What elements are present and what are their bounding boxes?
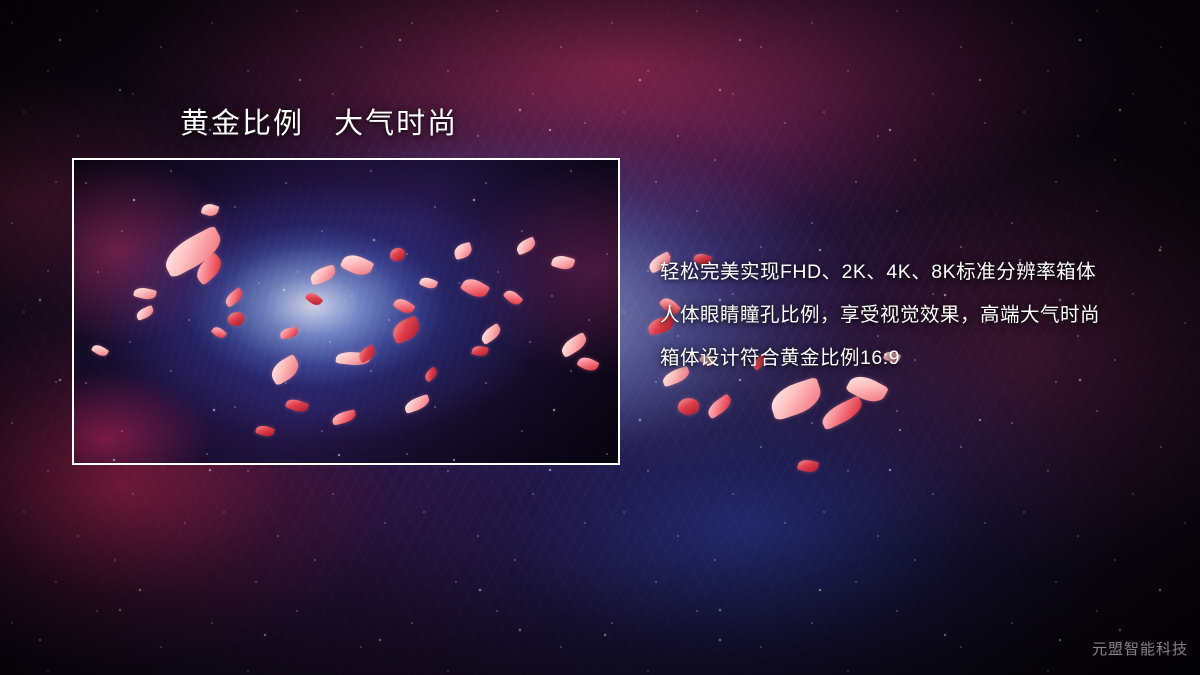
page-title: 黄金比例 大气时尚 bbox=[180, 100, 458, 142]
framed-image bbox=[72, 158, 620, 465]
body-line-3: 箱体设计符合黄金比例16:9 bbox=[660, 337, 1100, 380]
flower-petal bbox=[797, 458, 819, 474]
body-text-block: 轻松完美实现FHD、2K、4K、8K标准分辨率箱体 人体眼睛瞳孔比例，享受视觉效… bbox=[660, 251, 1100, 380]
body-line-2: 人体眼睛瞳孔比例，享受视觉效果，高端大气时尚 bbox=[660, 294, 1100, 337]
watermark: 元盟智能科技 bbox=[1092, 638, 1188, 659]
body-line-1: 轻松完美实现FHD、2K、4K、8K标准分辨率箱体 bbox=[660, 251, 1100, 294]
flower-petal bbox=[818, 395, 865, 430]
flower-petal bbox=[705, 394, 735, 420]
flower-petal bbox=[677, 396, 701, 416]
framed-image-wisps bbox=[74, 160, 618, 463]
slide-canvas: 黄金比例 大气时尚 轻松完美实现FHD、2K、4K、8K标准分辨率箱体 人体眼睛… bbox=[0, 0, 1200, 675]
flower-petal bbox=[767, 377, 826, 422]
